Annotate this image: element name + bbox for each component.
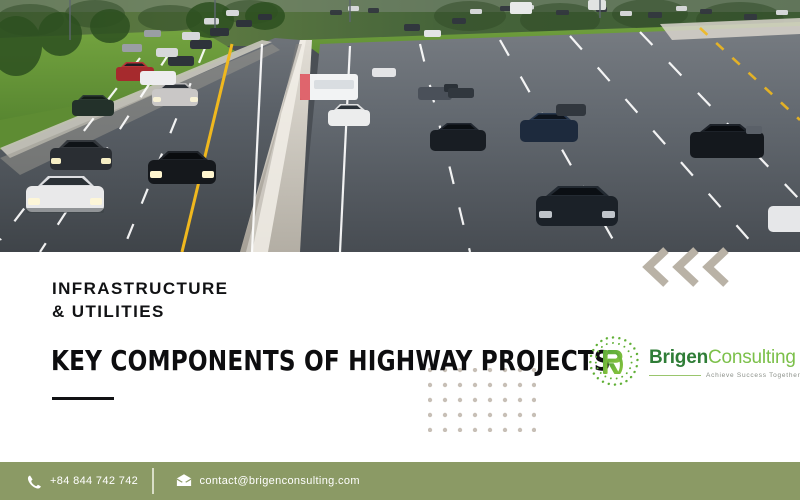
logo-monogram-icon (585, 334, 641, 390)
page-title: KEY COMPONENTS OF HIGHWAY PROJECTS (51, 344, 611, 377)
logo-wordmark: BrigenConsulting Achieve Success Togethe… (649, 346, 800, 379)
dot-grid-decoration (428, 368, 536, 432)
logo-tagline-rule (649, 375, 701, 376)
title-underline-rule (52, 397, 114, 400)
envelope-icon (176, 474, 191, 489)
footer-phone-item[interactable]: +84 844 742 742 (0, 462, 152, 500)
contact-footer: +84 844 742 742 contact@brigenconsulting… (0, 462, 800, 500)
highway-photo (0, 0, 800, 252)
logo-brand-secondary: Consulting (708, 347, 796, 368)
brand-logo: BrigenConsulting Achieve Success Togethe… (585, 332, 780, 392)
footer-email-text: contact@brigenconsulting.com (200, 475, 360, 487)
eyebrow-text: INFRASTRUCTURE & UTILITIES (52, 278, 228, 323)
content-area: INFRASTRUCTURE & UTILITIES KEY COMPONENT… (0, 252, 800, 462)
phone-icon (26, 474, 41, 489)
hero-banner (0, 0, 800, 252)
chevron-decoration (640, 246, 730, 288)
logo-brand-primary: Brigen (649, 347, 708, 368)
footer-phone-text: +84 844 742 742 (50, 475, 138, 487)
footer-email-item[interactable]: contact@brigenconsulting.com (154, 462, 360, 500)
logo-tagline: Achieve Success Together (706, 372, 800, 379)
footer-divider (152, 468, 154, 494)
